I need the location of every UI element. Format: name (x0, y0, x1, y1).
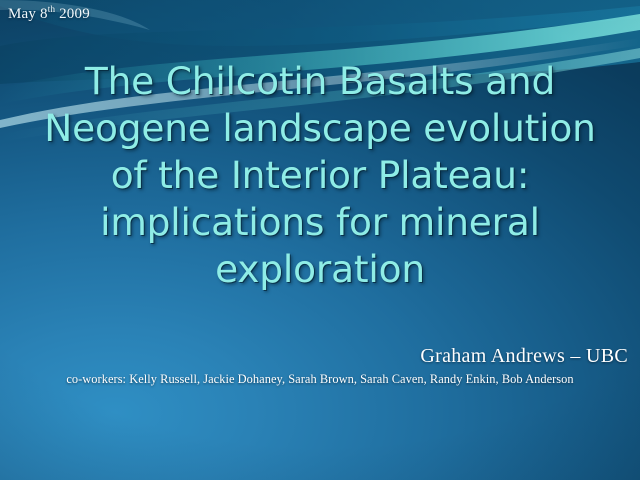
slide-date: May 8th 2009 (8, 4, 90, 23)
title-line-4: implications for mineral (10, 199, 630, 246)
page-title: The Chilcotin Basalts and Neogene landsc… (0, 58, 640, 293)
logo-strip: CANADA GSC TG 3 (0, 402, 640, 480)
coworkers-list: co-workers: Kelly Russell, Jackie Dohane… (0, 372, 640, 387)
title-line-1: The Chilcotin Basalts and (10, 58, 630, 105)
title-line-3: of the Interior Plateau: (10, 152, 630, 199)
presentation-title-slide: May 8th 2009 The Chilcotin Basalts and N… (0, 0, 640, 480)
author-name: Graham Andrews – UBC (420, 345, 628, 368)
title-line-2: Neogene landscape evolution (10, 105, 630, 152)
date-year: 2009 (55, 6, 90, 22)
date-text: May 8 (8, 6, 48, 22)
title-line-5: exploration (10, 246, 630, 293)
